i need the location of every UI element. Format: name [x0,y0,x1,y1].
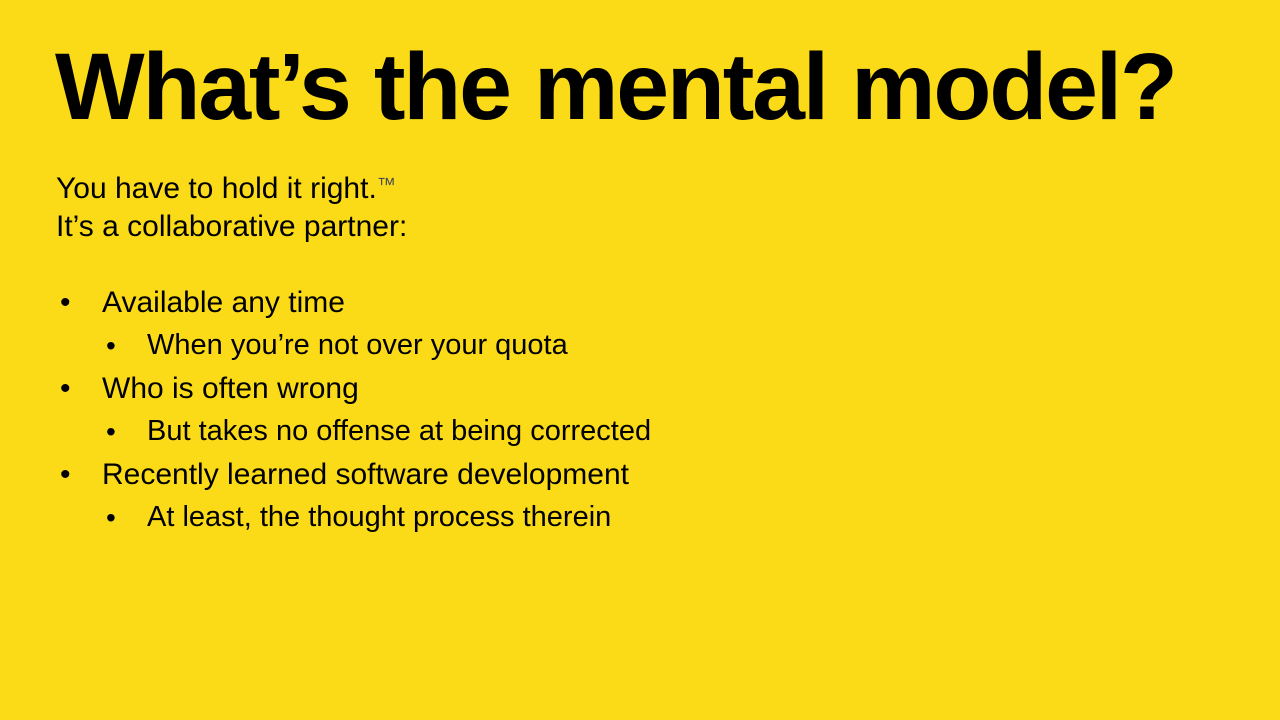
bullet-item: • At least, the thought process therein [56,496,1196,539]
bullet-marker-icon: • [60,367,71,410]
bullet-item: • Available any time [56,281,1196,324]
slide-title: What’s the mental model? [55,36,1235,138]
subtitle-line-1: You have to hold it right.™ [56,167,956,208]
trademark-symbol: ™ [377,175,397,196]
bullet-item-label: But takes no offense at being corrected [147,410,651,453]
bullet-marker-icon: • [60,453,71,496]
bullet-marker-icon: • [106,496,116,539]
bullet-item-label: When you’re not over your quota [147,324,568,367]
bullet-marker-icon: • [60,281,71,324]
bullet-item-label: Recently learned software development [102,453,629,496]
subtitle-line-1-text: You have to hold it right. [56,172,377,205]
bullet-marker-icon: • [106,410,116,453]
bullet-list: • Available any time • When you’re not o… [56,281,1196,539]
bullet-item: • But takes no offense at being correcte… [56,410,1196,453]
bullet-item: • When you’re not over your quota [56,324,1196,367]
bullet-item: • Who is often wrong [56,367,1196,410]
subtitle-line-2: It’s a collaborative partner: [56,208,956,246]
bullet-item-label: Available any time [102,281,345,324]
bullet-item: • Recently learned software development [56,453,1196,496]
bullet-item-label: Who is often wrong [102,367,359,410]
presentation-slide: What’s the mental model? You have to hol… [0,0,1280,720]
bullet-marker-icon: • [106,324,116,367]
slide-subtitle: You have to hold it right.™ It’s a colla… [56,167,956,246]
bullet-item-label: At least, the thought process therein [147,496,611,539]
